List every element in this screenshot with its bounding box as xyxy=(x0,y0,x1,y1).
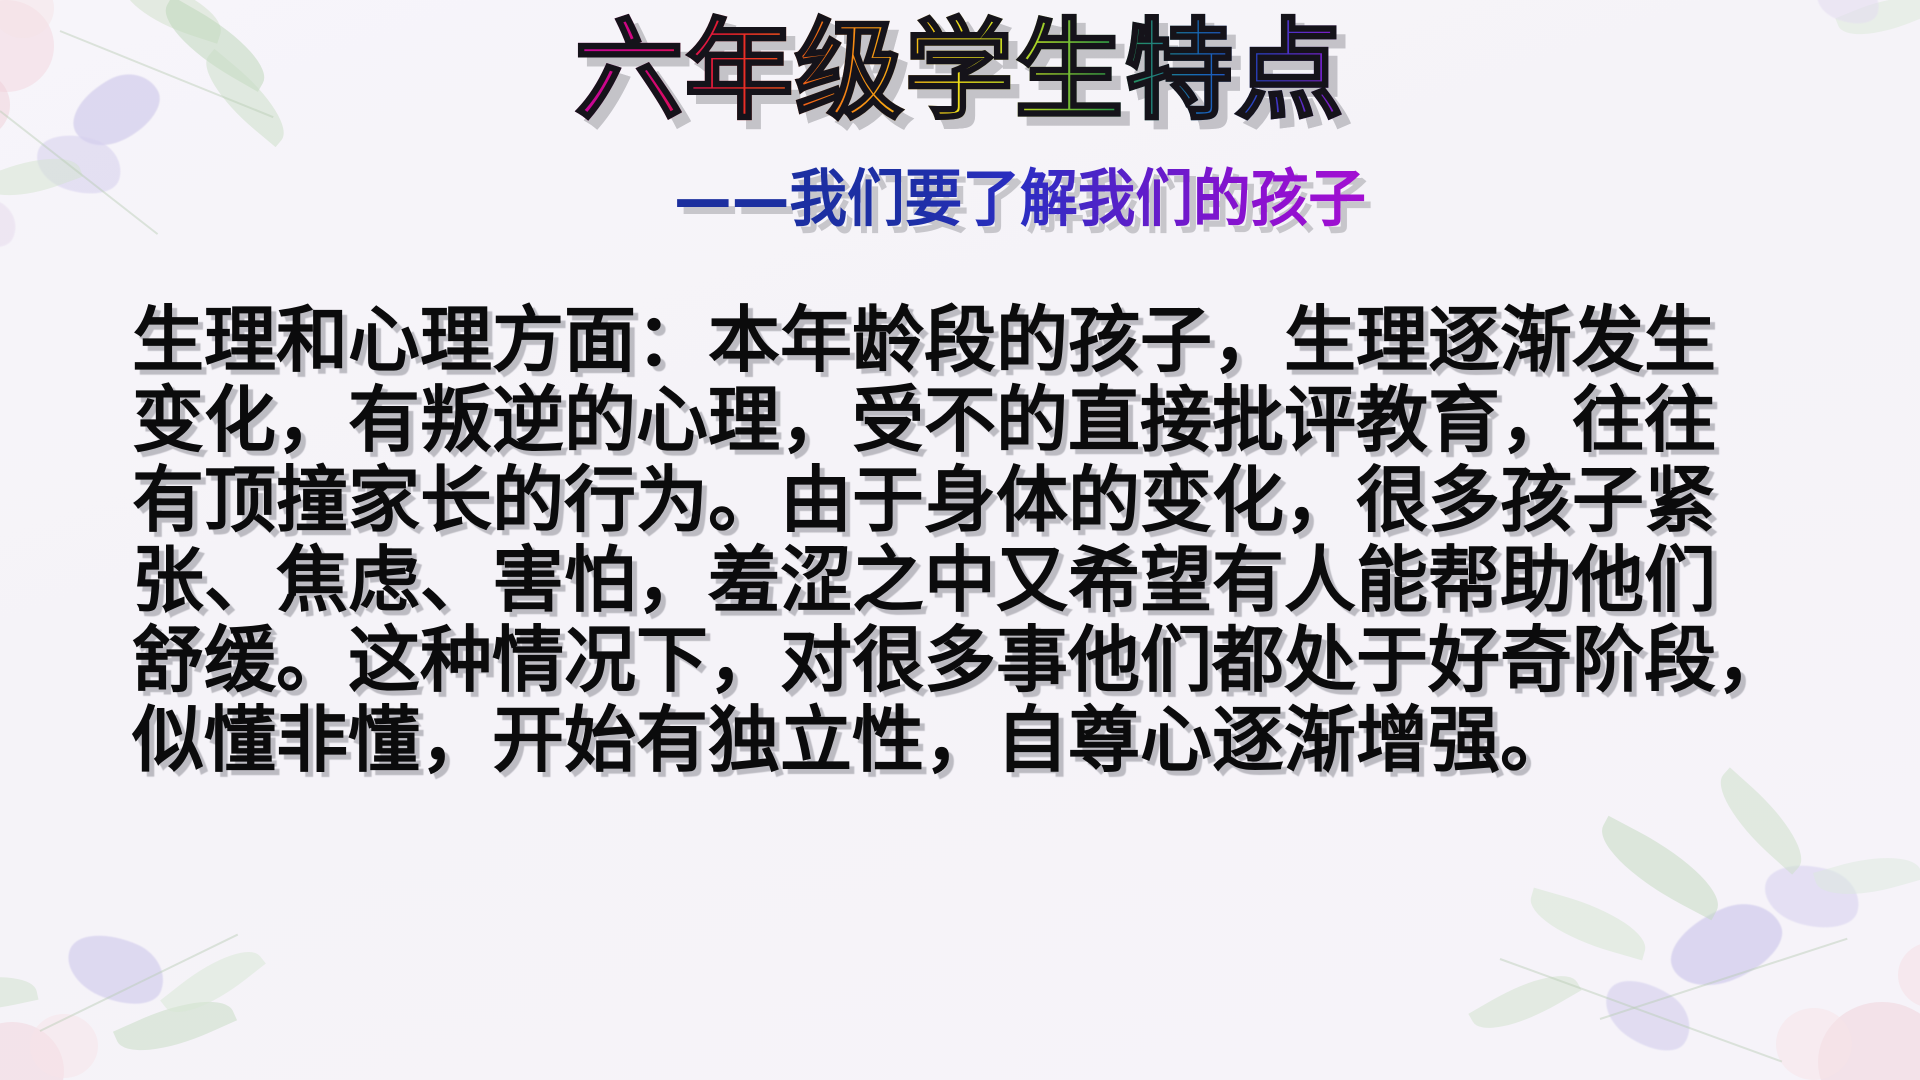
body-line: 变化，有叛逆的心理，受不的直接批评教育，往往 xyxy=(132,380,1812,460)
body-line: 似懂非懂，开始有独立性，自尊心逐渐增强。 xyxy=(132,700,1812,780)
page-title: 六年级学生特点 xyxy=(575,14,1345,131)
presentation-slide: 六年级学生特点 ——我们要了解我们的孩子 生理和心理方面：本年龄段的孩子，生理逐… xyxy=(0,0,1920,1080)
watercolor-floral-bottom-left-decoration xyxy=(0,730,400,1080)
title-container: 六年级学生特点 xyxy=(0,14,1920,131)
body-line: 有顶撞家长的行为。由于身体的变化，很多孩子紧 xyxy=(132,460,1812,540)
body-text-container: 生理和心理方面：本年龄段的孩子，生理逐渐发生 变化，有叛逆的心理，受不的直接批评… xyxy=(132,300,1812,780)
subtitle-container: ——我们要了解我们的孩子 xyxy=(0,148,1920,238)
page-subtitle: ——我们要了解我们的孩子 xyxy=(674,148,1366,238)
body-line: 张、焦虑、害怕，羞涩之中又希望有人能帮助他们 xyxy=(132,540,1812,620)
body-line: 舒缓。这种情况下，对很多事他们都处于好奇阶段， xyxy=(132,620,1812,700)
body-line: 生理和心理方面：本年龄段的孩子，生理逐渐发生 xyxy=(132,300,1812,380)
